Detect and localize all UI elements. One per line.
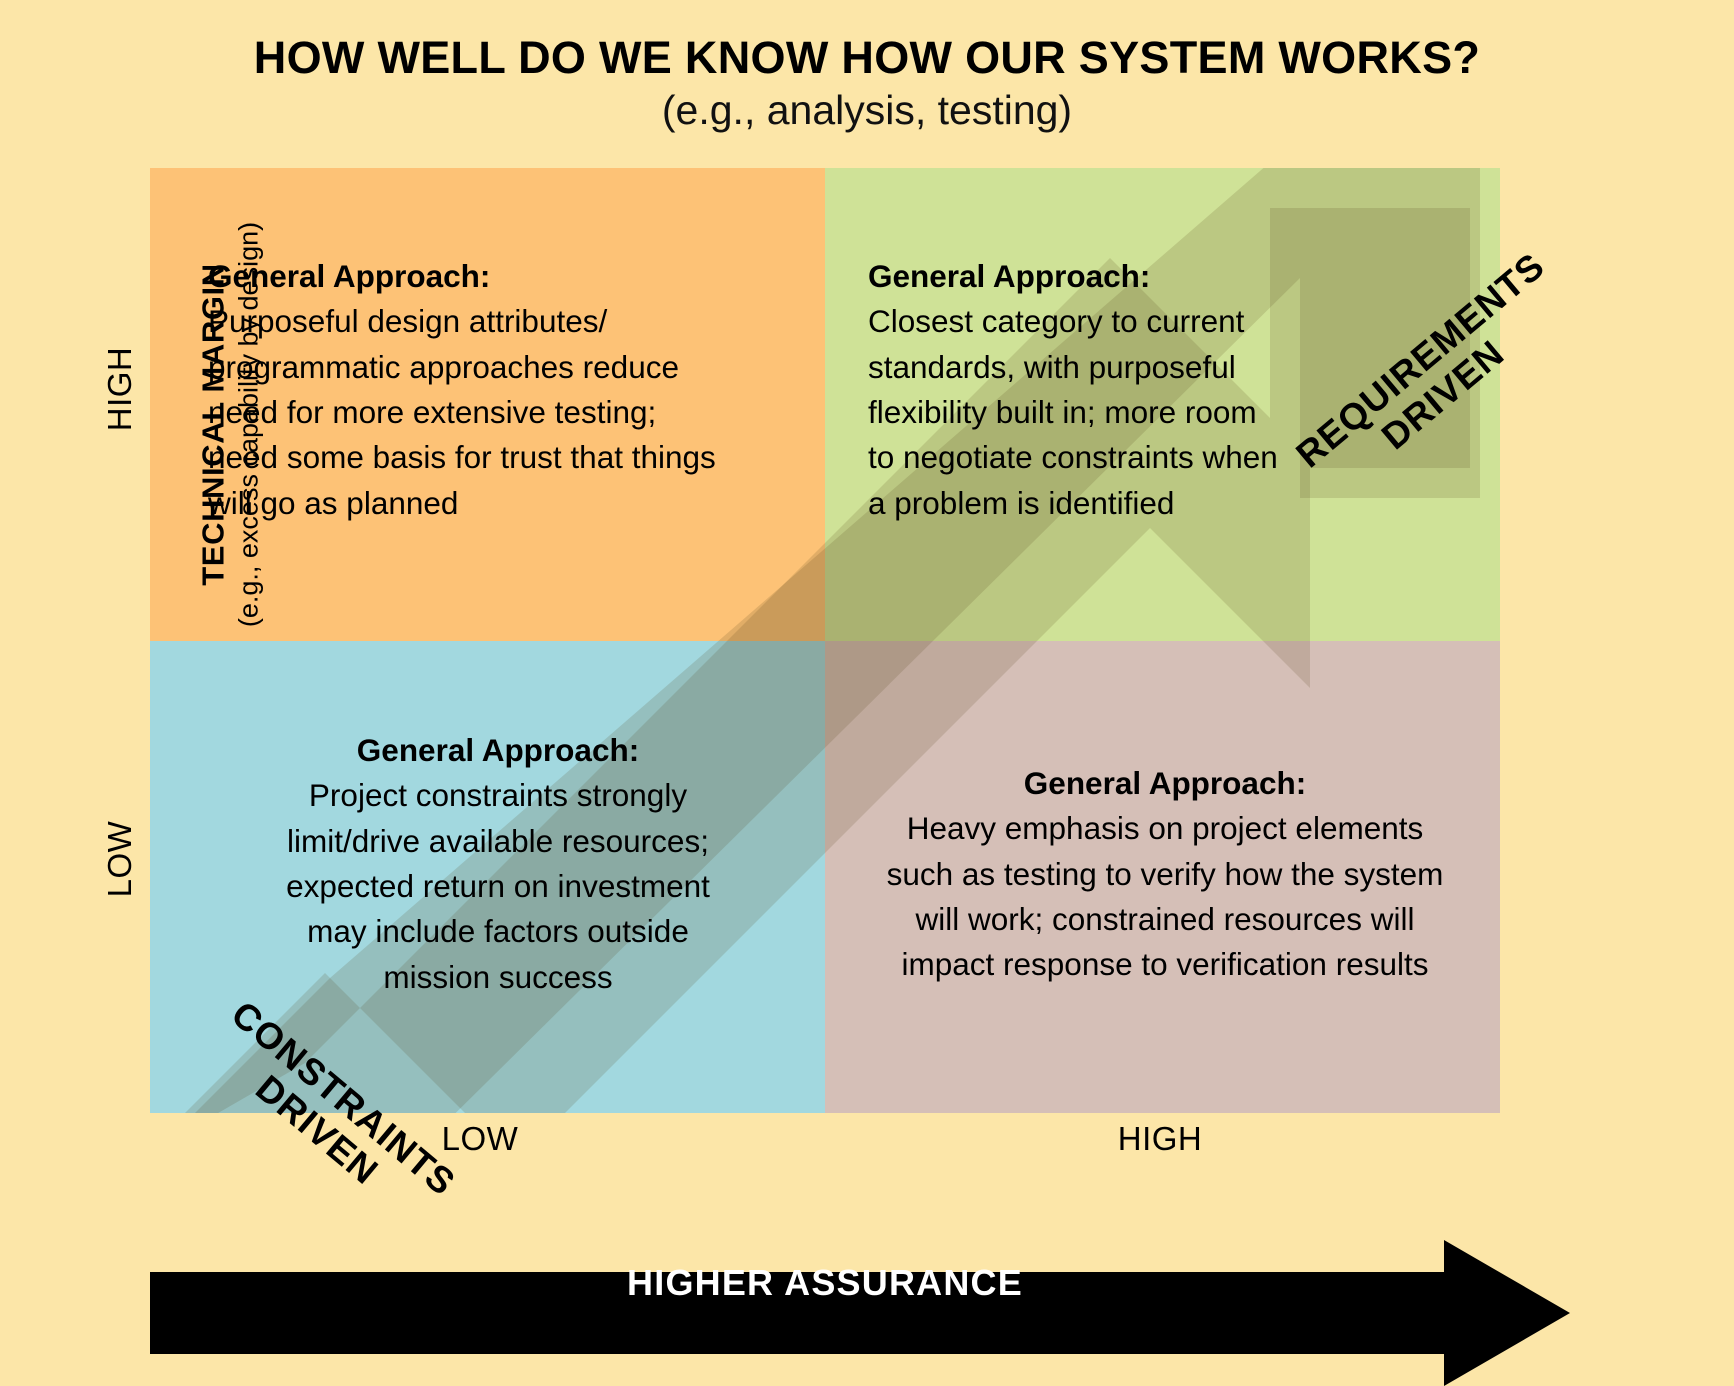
quadrant-top-left-heading: General Approach:: [208, 254, 808, 299]
title-block: HOW WELL DO WE KNOW HOW OUR SYSTEM WORKS…: [0, 34, 1734, 132]
x-axis-tick-high: HIGH: [1080, 1120, 1240, 1158]
quadrant-top-left-text: General Approach: Purposeful design attr…: [208, 254, 808, 526]
quadrant-bottom-right-heading: General Approach:: [840, 761, 1490, 806]
page-subtitle: (e.g., analysis, testing): [0, 89, 1734, 132]
quadrant-top-left-body: Purposeful design attributes/ programmat…: [208, 299, 808, 526]
quadrant-bottom-left-body: Project constraints strongly limit/drive…: [178, 773, 818, 1000]
page-title: HOW WELL DO WE KNOW HOW OUR SYSTEM WORKS…: [0, 34, 1734, 81]
quadrant-bottom-left-heading: General Approach:: [178, 728, 818, 773]
y-axis-tick-high: HIGH: [101, 329, 139, 449]
quadrant-bottom-right-body: Heavy emphasis on project elements such …: [840, 806, 1490, 987]
quadrant-bottom-left-text: General Approach: Project constraints st…: [178, 728, 818, 1000]
quadrant-top-right-heading: General Approach:: [868, 254, 1468, 299]
quadrant-matrix: General Approach: Purposeful design attr…: [150, 168, 1500, 1113]
quadrant-diagram-page: { "header": { "title": "HOW WELL DO WE K…: [0, 0, 1734, 1386]
quadrant-bottom-right-text: General Approach: Heavy emphasis on proj…: [840, 761, 1490, 988]
y-axis-tick-low: LOW: [101, 799, 139, 919]
x-axis-arrow-label: HIGHER ASSURANCE: [150, 1262, 1500, 1304]
